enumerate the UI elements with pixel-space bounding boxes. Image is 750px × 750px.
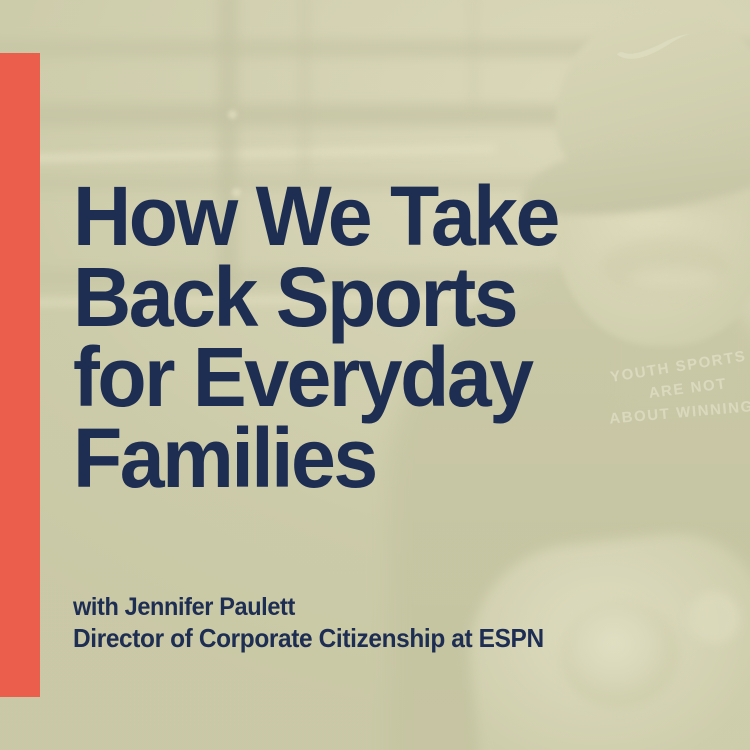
title-line-4: Families [73,418,649,499]
podcast-cover-art: YOUTH SPORTS ARE NOT ABOUT WINNING How W… [0,0,750,750]
guest-name-line: with Jennifer Paulett [73,592,544,623]
title-line-2: Back Sports [73,257,649,338]
accent-bar [0,53,40,697]
guest-role-line: Director of Corporate Citizenship at ESP… [73,623,544,655]
page-title: How We Take Back Sports for Everyday Fam… [73,176,649,499]
title-line-1: How We Take [73,176,649,257]
subtitle-block: with Jennifer Paulett Director of Corpor… [73,592,544,654]
title-block: How We Take Back Sports for Everyday Fam… [73,176,673,499]
title-line-3: for Everyday [73,337,649,418]
